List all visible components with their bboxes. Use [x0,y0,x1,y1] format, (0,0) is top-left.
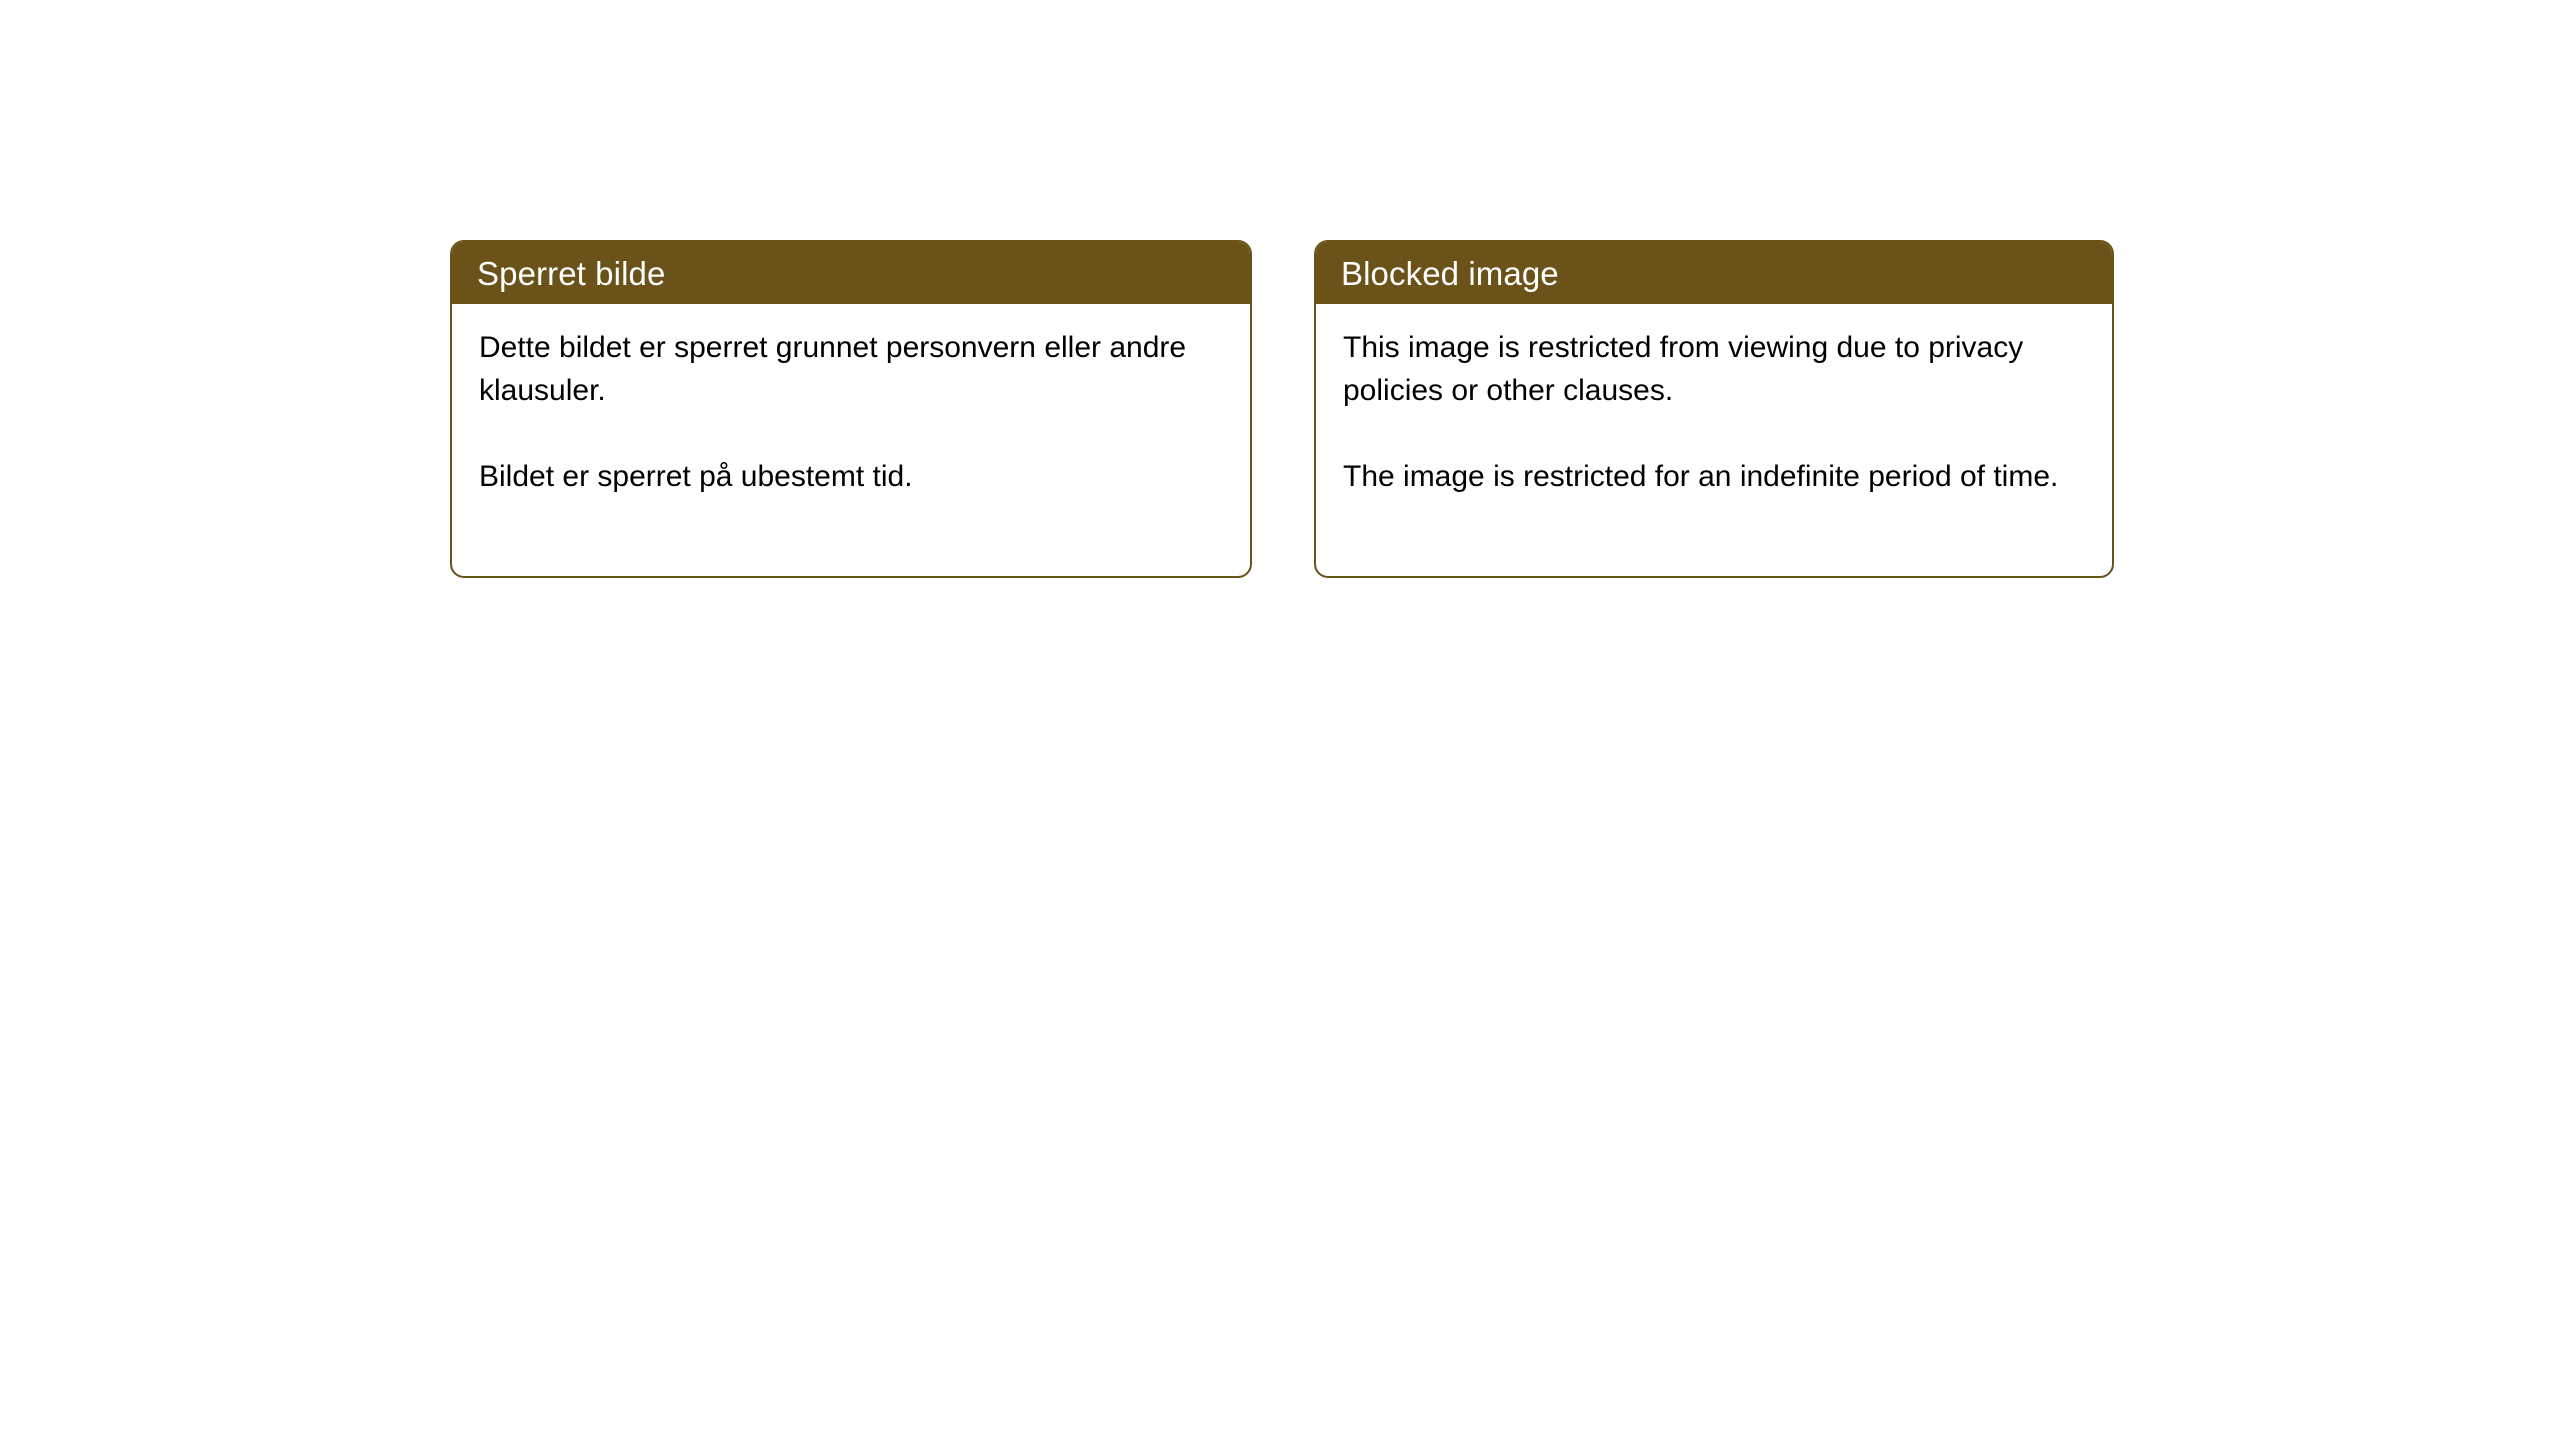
panel-paragraph-reason-norwegian: Dette bildet er sperret grunnet personve… [479,326,1191,412]
blocked-image-notice-group: Sperret bilde Dette bildet er sperret gr… [450,240,2114,578]
blocked-image-panel-norwegian: Sperret bilde Dette bildet er sperret gr… [450,240,1252,578]
panel-header-norwegian: Sperret bilde [452,242,1250,304]
panel-header-english: Blocked image [1316,242,2112,304]
blocked-image-panel-english: Blocked image This image is restricted f… [1314,240,2114,578]
panel-title-norwegian: Sperret bilde [477,257,665,290]
panel-body-norwegian: Dette bildet er sperret grunnet personve… [452,304,1250,576]
panel-body-english: This image is restricted from viewing du… [1316,304,2112,576]
panel-paragraph-duration-english: The image is restricted for an indefinit… [1343,455,2086,498]
panel-paragraph-reason-english: This image is restricted from viewing du… [1343,326,2086,412]
panel-paragraph-duration-norwegian: Bildet er sperret på ubestemt tid. [479,455,1191,498]
panel-title-english: Blocked image [1341,257,1559,290]
